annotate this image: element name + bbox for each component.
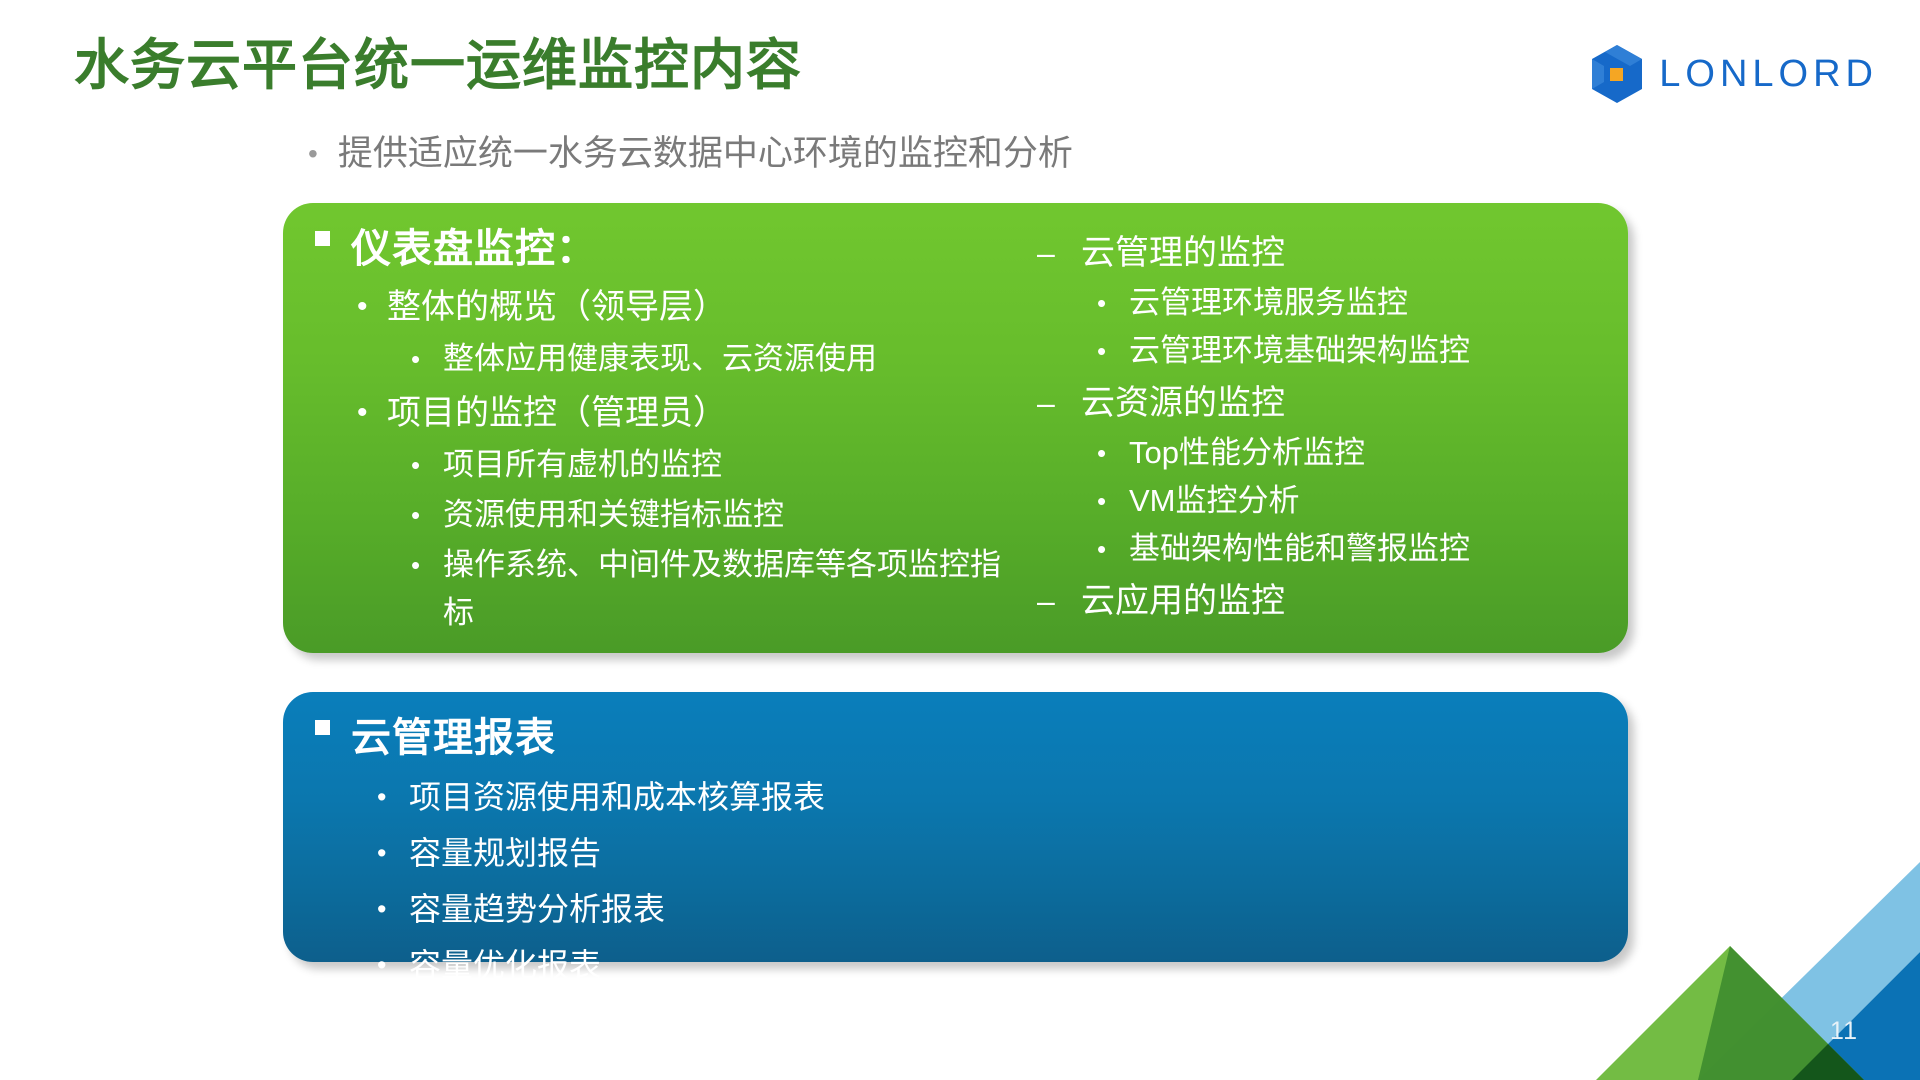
deco-light-green-triangle [1596,946,1864,1080]
square-bullet-icon [315,710,351,766]
list-item: • 整体的概览（领导层） [315,281,1023,333]
list-item-label: Top性能分析监控 [1129,429,1365,477]
list-item-label: 容量优化报表 [409,940,601,990]
dot-bullet-icon: • [1097,477,1129,525]
list-item-label: 云管理的监控 [1081,227,1285,279]
green-panel-right-column: – 云管理的监控 • 云管理环境服务监控 • 云管理环境基础架构监控 – 云资源… [1023,203,1628,653]
list-item: • Top性能分析监控 [1037,429,1628,477]
dot-bullet-icon: • [411,541,443,589]
list-item: – 云资源的监控 [1037,377,1628,429]
list-item-label: 项目的监控（管理员） [387,387,727,439]
dot-bullet-icon: • [377,884,409,934]
blue-panel-heading-label: 云管理报表 [351,710,556,766]
list-item: • 项目资源使用和成本核算报表 [315,772,1628,822]
deco-dark-green-overlap [1792,1044,1864,1080]
list-item-label: 云资源的监控 [1081,377,1285,429]
list-item-label: 资源使用和关键指标监控 [443,491,784,539]
list-item: • 容量趋势分析报表 [315,884,1628,934]
dash-bullet-icon: – [1037,575,1081,627]
dot-bullet-icon: • [411,441,443,489]
list-item-label: 操作系统、中间件及数据库等各项监控指标 [443,541,1003,637]
deco-dark-blue-triangle [1792,952,1920,1080]
green-panel-left-column: 仪表盘监控： • 整体的概览（领导层） • 整体应用健康表现、云资源使用 • 项… [283,203,1023,653]
dot-bullet-icon: • [377,940,409,990]
list-item: • 资源使用和关键指标监控 [315,491,1023,539]
list-item-label: 容量规划报告 [409,828,601,878]
logo-wordmark: LONLORD [1659,53,1878,96]
cloud-report-panel: 云管理报表 • 项目资源使用和成本核算报表 • 容量规划报告 • 容量趋势分析报… [283,692,1628,962]
list-item-label: 项目所有虚机的监控 [443,441,722,489]
subtitle-row: • 提供适应统一水务云数据中心环境的监控和分析 [308,130,1073,178]
page-number: 11 [1830,1017,1858,1046]
list-item-label: 基础架构性能和警报监控 [1129,525,1470,573]
subtitle-text: 提供适应统一水务云数据中心环境的监控和分析 [338,130,1073,178]
deco-light-blue-band [1698,862,1920,1080]
list-item: – 云应用的监控 [1037,575,1628,627]
dash-bullet-icon: – [1037,227,1081,279]
green-panel-heading-label: 仪表盘监控： [351,221,597,277]
dot-bullet-icon: • [377,772,409,822]
dashboard-monitoring-panel: 仪表盘监控： • 整体的概览（领导层） • 整体应用健康表现、云资源使用 • 项… [283,203,1628,653]
dash-bullet-icon: – [1037,377,1081,429]
list-item: • 操作系统、中间件及数据库等各项监控指标 [315,541,1023,637]
list-item: • 云管理环境服务监控 [1037,279,1628,327]
subtitle-bullet-icon: • [308,130,318,178]
list-item-label: 容量趋势分析报表 [409,884,665,934]
list-item: • 基础架构性能和警报监控 [1037,525,1628,573]
list-item-label: 云应用的监控 [1081,575,1285,627]
dot-bullet-icon: • [1097,525,1129,573]
dot-bullet-icon: • [411,491,443,539]
lonlord-hexagon-icon [1589,44,1645,104]
list-item: • 云管理环境基础架构监控 [1037,327,1628,375]
list-item: • 容量优化报表 [315,940,1628,990]
blue-panel-body: 云管理报表 • 项目资源使用和成本核算报表 • 容量规划报告 • 容量趋势分析报… [283,692,1628,990]
list-item-label: 云管理环境服务监控 [1129,279,1408,327]
dot-bullet-icon: • [377,828,409,878]
page-title: 水务云平台统一运维监控内容 [74,32,802,98]
list-item-label: VM监控分析 [1129,477,1300,525]
list-item: • 项目的监控（管理员） [315,387,1023,439]
green-panel-heading: 仪表盘监控： [315,221,1023,277]
dot-bullet-icon: • [1097,429,1129,477]
dot-bullet-icon: • [1097,327,1129,375]
square-bullet-icon [315,221,351,277]
list-item-label: 项目资源使用和成本核算报表 [409,772,825,822]
dot-bullet-icon: • [357,387,387,439]
brand-logo: LONLORD [1589,44,1878,104]
list-item: • VM监控分析 [1037,477,1628,525]
list-item-label: 云管理环境基础架构监控 [1129,327,1470,375]
dot-bullet-icon: • [411,335,443,383]
list-item-label: 整体应用健康表现、云资源使用 [443,335,877,383]
list-item: • 项目所有虚机的监控 [315,441,1023,489]
list-item: • 整体应用健康表现、云资源使用 [315,335,1023,383]
slide-canvas: 水务云平台统一运维监控内容 LONLORD • 提供适应统一水务云数据中心环境的… [0,0,1920,1080]
blue-panel-heading: 云管理报表 [315,710,1628,766]
dot-bullet-icon: • [1097,279,1129,327]
deco-mid-green-overlap [1698,946,1864,1080]
list-item-label: 整体的概览（领导层） [387,281,727,333]
dot-bullet-icon: • [357,281,387,333]
list-item: – 云管理的监控 [1037,227,1628,279]
list-item: • 容量规划报告 [315,828,1628,878]
